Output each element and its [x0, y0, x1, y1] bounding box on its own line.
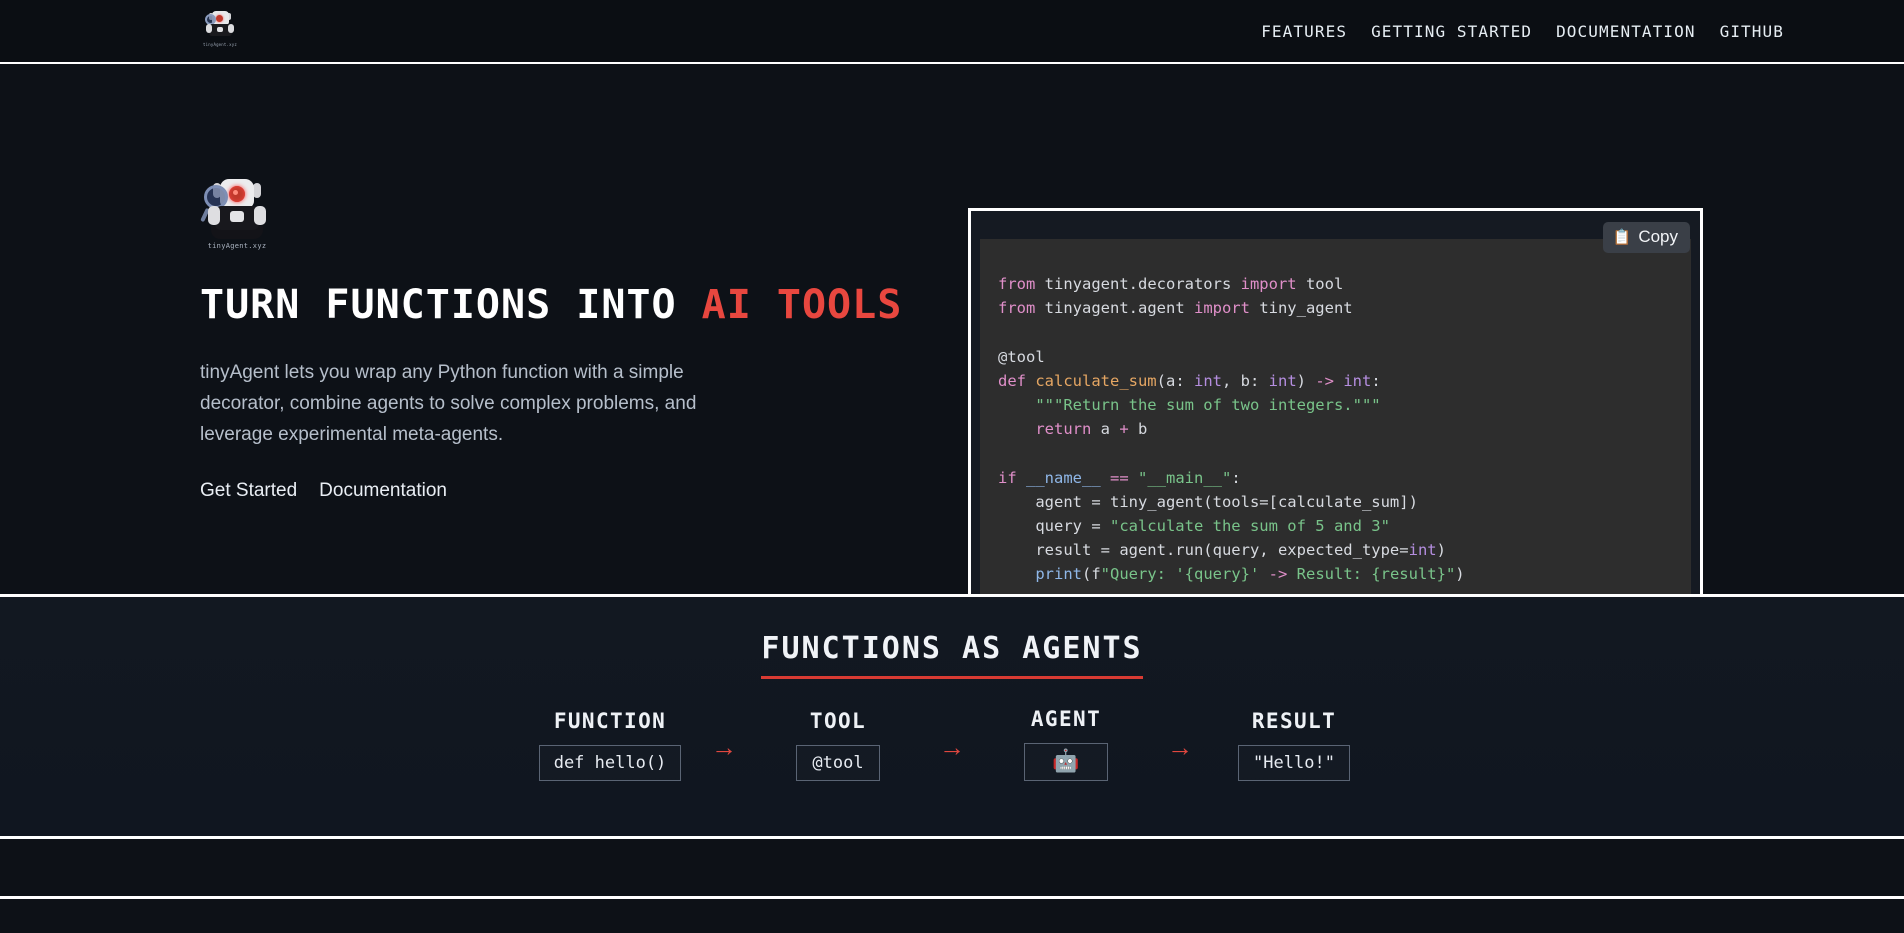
code-token: """Return the sum of two integers.""": [998, 396, 1381, 414]
pipeline-diagram: FUNCTIONdef hello()→TOOL@tool→AGENT🤖→RES…: [0, 707, 1904, 781]
code-token: from: [998, 299, 1045, 317]
get-started-button[interactable]: Get Started: [200, 480, 297, 502]
nav-link-getting-started[interactable]: GETTING STARTED: [1371, 22, 1532, 41]
code-token: tinyagent.agent: [1045, 299, 1194, 317]
copy-code-button[interactable]: 📋 Copy: [1603, 222, 1690, 253]
hero-subtitle: tinyAgent lets you wrap any Python funct…: [200, 358, 720, 450]
code-token: :: [1231, 469, 1240, 487]
section-title: FUNCTIONS AS AGENTS: [761, 631, 1142, 679]
code-token: int: [1409, 541, 1437, 559]
code-token: agent = tiny_agent(tools=[calculate_sum]…: [998, 493, 1418, 511]
hero-logo-caption: tinyAgent.xyz: [208, 242, 267, 250]
pipeline-step-label: AGENT: [1031, 707, 1101, 731]
pipeline-arrow-icon: →: [913, 732, 991, 781]
footer-band-lower: [0, 896, 1904, 933]
code-token: ==: [1110, 469, 1138, 487]
pipeline-step-label: RESULT: [1252, 709, 1336, 733]
code-token: import: [1241, 275, 1306, 293]
code-token: def: [998, 372, 1035, 390]
code-token: ): [1297, 372, 1316, 390]
code-token: @tool: [998, 348, 1045, 366]
pipeline-step: AGENT🤖: [991, 707, 1141, 781]
functions-as-agents-section: FUNCTIONS AS AGENTS FUNCTIONdef hello()→…: [0, 594, 1904, 836]
code-token: ): [1455, 565, 1464, 583]
code-token: ->: [1315, 372, 1343, 390]
code-panel: 📋 Copy from tinyagent.decorators import …: [968, 208, 1703, 613]
pipeline-step: RESULT"Hello!": [1219, 709, 1369, 781]
pipeline-step-label: FUNCTION: [554, 709, 666, 733]
code-token: :: [1371, 372, 1380, 390]
hero-section: tinyAgent.xyz TURN FUNCTIONS INTO AI TOO…: [0, 64, 1904, 594]
code-token: [998, 420, 1035, 438]
code-token: "calculate the sum of 5 and 3": [1110, 517, 1390, 535]
code-token: ->: [1269, 565, 1297, 583]
code-token: int: [1269, 372, 1297, 390]
nav-link-documentation[interactable]: DOCUMENTATION: [1556, 22, 1696, 41]
nav-logo-caption: tinyAgent.xyz: [203, 42, 237, 47]
code-token: tiny_agent: [1259, 299, 1352, 317]
code-token: , b:: [1222, 372, 1269, 390]
pipeline-step: TOOL@tool: [763, 709, 913, 781]
nav-logo[interactable]: tinyAgent.xyz: [200, 6, 240, 50]
code-token: Result: {result}": [1297, 565, 1456, 583]
hero-actions: Get Started Documentation: [200, 480, 960, 502]
code-token: (a:: [1157, 372, 1194, 390]
pipeline-arrow-icon: →: [685, 732, 763, 781]
code-token: +: [1119, 420, 1138, 438]
code-token: query =: [998, 517, 1110, 535]
pipeline-step-value: def hello(): [539, 745, 682, 781]
nav-link-features[interactable]: FEATURES: [1261, 22, 1347, 41]
code-token: ): [1437, 541, 1446, 559]
code-token: (f: [1082, 565, 1101, 583]
documentation-button[interactable]: Documentation: [319, 480, 447, 502]
code-token: int: [1343, 372, 1371, 390]
pipeline-step-emoji: 🤖: [1024, 743, 1108, 781]
code-token: "__main__": [1138, 469, 1231, 487]
footer-band-upper: [0, 836, 1904, 896]
page-title: TURN FUNCTIONS INTO AI TOOLS: [200, 282, 960, 328]
code-token: if: [998, 469, 1026, 487]
pipeline-arrow-icon: →: [1141, 732, 1219, 781]
code-token: from: [998, 275, 1045, 293]
hero-logo: tinyAgent.xyz: [200, 176, 274, 254]
code-editor-area[interactable]: from tinyagent.decorators import tool fr…: [980, 239, 1691, 598]
code-token: calculate_sum: [1035, 372, 1156, 390]
code-token: a: [1101, 420, 1120, 438]
code-token: import: [1194, 299, 1259, 317]
code-token: return: [1035, 420, 1100, 438]
nav-link-github[interactable]: GITHUB: [1720, 22, 1784, 41]
copy-code-label: Copy: [1638, 227, 1678, 247]
code-token: int: [1194, 372, 1222, 390]
robot-mascot-icon: [201, 176, 273, 240]
code-block[interactable]: from tinyagent.decorators import tool fr…: [980, 239, 1691, 598]
top-navbar: tinyAgent.xyz FEATURES GETTING STARTED D…: [0, 0, 1904, 64]
page-title-main: TURN FUNCTIONS INTO: [200, 282, 702, 328]
page-title-accent: AI TOOLS: [702, 282, 903, 328]
code-token: tinyagent.decorators: [1045, 275, 1241, 293]
code-token: __name__: [1026, 469, 1110, 487]
hero-left-column: tinyAgent.xyz TURN FUNCTIONS INTO AI TOO…: [200, 64, 960, 594]
pipeline-step-value: "Hello!": [1238, 745, 1350, 781]
nav-links: FEATURES GETTING STARTED DOCUMENTATION G…: [1261, 22, 1784, 41]
pipeline-step: FUNCTIONdef hello(): [535, 709, 685, 781]
code-token: b: [1138, 420, 1147, 438]
code-token: result = agent.run(query, expected_type=: [998, 541, 1409, 559]
robot-logo-icon: [203, 9, 237, 41]
pipeline-step-label: TOOL: [810, 709, 866, 733]
code-token: print: [1035, 565, 1082, 583]
clipboard-icon: 📋: [1613, 230, 1632, 245]
code-token: tool: [1306, 275, 1343, 293]
pipeline-step-value: @tool: [796, 745, 880, 781]
code-token: "Query: '{query}': [1101, 565, 1269, 583]
code-token: [998, 565, 1035, 583]
